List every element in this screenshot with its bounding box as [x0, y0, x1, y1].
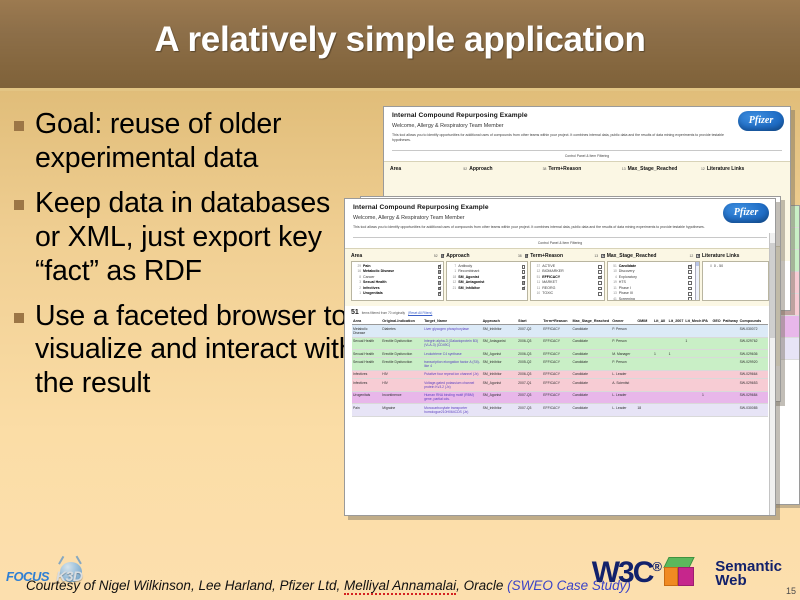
facet-option-checkbox[interactable]	[688, 292, 692, 296]
table-cell	[711, 337, 721, 350]
col-target-name[interactable]: Target_Name	[423, 317, 482, 325]
facet-option-checkbox[interactable]	[598, 276, 602, 280]
facet-count: 12	[690, 254, 694, 258]
credit-prefix: Courtesy of Nigel Wilkinson, Lee Harland…	[26, 578, 344, 593]
control-panel-label: Control Panel & Item Filtering	[345, 238, 775, 248]
facet-options-term-reason[interactable]: 37ACTIVE 12BIOMARKER 51EFFICACY 11MARKET…	[530, 261, 605, 301]
table-cell	[668, 358, 685, 371]
table-cell	[711, 350, 721, 358]
table-cell: Sexual Health	[352, 337, 381, 350]
facet-header: Literature Links	[702, 253, 769, 259]
table-cell: 18	[636, 404, 653, 417]
table-cell: Candidate	[572, 337, 612, 350]
vertical-scrollbar[interactable]	[769, 199, 775, 515]
table-cell: SW-029653	[739, 379, 768, 392]
table-cell: HIV	[381, 370, 423, 378]
facet-option-checkbox[interactable]	[688, 297, 692, 301]
table-cell: SW-029684	[739, 391, 768, 404]
facet-option-checkbox[interactable]	[598, 287, 602, 291]
credit-line: Courtesy of Nigel Wilkinson, Lee Harland…	[26, 578, 631, 593]
table-cell: 2006-Q3	[517, 350, 542, 358]
table-cell	[701, 350, 711, 358]
table-cell: SW-029664	[739, 370, 768, 378]
table-cell: EFFICACY	[542, 325, 571, 338]
facet-option-count: 8	[705, 264, 712, 269]
table-cell	[653, 391, 668, 404]
table-cell: SM_Inhibitor	[482, 404, 518, 417]
table-cell	[722, 404, 739, 417]
facet-title: Max_Stage_Reached	[607, 253, 657, 259]
facet-count: 12	[701, 167, 705, 171]
table-cell: EFFICACY	[542, 404, 571, 417]
table-cell: EFFICACY	[542, 350, 571, 358]
table-cell: EFFICACY	[542, 379, 571, 392]
facet-count: 52	[463, 167, 467, 171]
target-name-link[interactable]: Human RNA binding motif (RBM) gene, part…	[423, 391, 482, 404]
facet-literature-links: Literature Links 80 - 50	[702, 253, 769, 301]
table-cell: 2005-Q2	[517, 358, 542, 371]
table-cell: EFFICACY	[542, 370, 571, 378]
table-row[interactable]: Sexual HealthErectile DysfunctionIntegri…	[352, 337, 768, 350]
cube-left-face	[664, 567, 678, 586]
table-cell	[668, 391, 685, 404]
facet-scrollbar[interactable]	[695, 262, 699, 300]
table-cell	[722, 358, 739, 371]
facet-option[interactable]: 10TOXIC	[533, 291, 602, 296]
app-welcome: Welcome, Allergy & Respiratory Team Memb…	[392, 123, 782, 129]
facet-option-checkbox[interactable]	[688, 276, 692, 280]
facet-option-checkbox[interactable]	[438, 270, 442, 274]
table-cell: L. Leader	[611, 404, 636, 417]
facet-option[interactable]: 21SM_Inhibitor	[449, 286, 525, 291]
target-name-link[interactable]: Integrin alpha-3 (Galactoprotein B3)(VLA…	[423, 337, 482, 350]
facet-header: Max_Stage_Reached 12	[607, 253, 700, 259]
col-area[interactable]: Area	[352, 317, 381, 325]
col-start[interactable]: Start	[517, 317, 542, 325]
facet-option-label: TOXIC	[542, 291, 553, 296]
table-cell	[722, 379, 739, 392]
col-pathway[interactable]: Pathway	[722, 317, 739, 325]
reset-filters-link[interactable]: (Reset All Filters)	[408, 311, 432, 315]
table-cell: 2007-Q3	[517, 391, 542, 404]
col-term-reason[interactable]: Term+Reason	[542, 317, 571, 325]
table-cell	[701, 379, 711, 392]
facet-options-literature[interactable]: 80 - 50	[702, 261, 769, 301]
table-cell	[653, 404, 668, 417]
target-name-link[interactable]: Leukotriene C4 synthase	[423, 350, 482, 358]
app-title: Internal Compound Repurposing Example	[392, 112, 782, 119]
table-cell	[668, 337, 685, 350]
pfizer-logo: Pfizer	[738, 111, 784, 131]
credit-name: Melliyal Annamalai	[344, 578, 456, 595]
page-title: A relatively simple application	[0, 20, 800, 60]
control-panel-label: Control Panel & Item Filtering	[384, 151, 790, 161]
table-cell: 2006-Q3	[517, 370, 542, 378]
table-cell: SW-030085	[739, 404, 768, 417]
facet-option[interactable]: 1Urogenitals	[354, 291, 441, 296]
table-cell	[711, 370, 721, 378]
facet-area: Area 52 29Pain 16Metabolic Disease 8Canc…	[351, 253, 444, 301]
slide-footer: FOCUS K3D Courtesy of Nigel Wilkinson, L…	[0, 548, 800, 600]
facet-title: Term+Reason	[548, 166, 581, 172]
table-cell: SM_Agonist	[482, 379, 518, 392]
slide: A relatively simple application Goal: re…	[0, 0, 800, 600]
facet-option[interactable]: 80 - 50	[705, 264, 766, 269]
table-cell	[722, 370, 739, 378]
facet-count: 52	[434, 254, 438, 258]
pfizer-logo: Pfizer	[723, 203, 769, 223]
facet-header: Area 52	[351, 253, 444, 259]
facet-header: Max_Stage_Reached 12	[628, 166, 705, 172]
table-cell	[711, 325, 721, 338]
bullet-list: Goal: reuse of older experimental data K…	[10, 108, 362, 412]
facet-title: Approach	[469, 166, 492, 172]
table-cell: Candidate	[572, 404, 612, 417]
facet-select-all-checkbox[interactable]	[696, 254, 700, 258]
table-cell	[684, 358, 701, 371]
table-cell: SM_Antagonist	[482, 337, 518, 350]
facet-header: Term+Reason 13	[548, 166, 625, 172]
credit-suffix: , Oracle	[456, 578, 507, 593]
table-cell: L. Leader	[611, 391, 636, 404]
facet-header: Approach 38	[446, 253, 528, 259]
table-cell	[722, 337, 739, 350]
table-cell: Migraine	[381, 404, 423, 417]
table-cell: EFFICACY	[542, 391, 571, 404]
table-cell: Infectives	[352, 379, 381, 392]
table-cell: Erectile Dysfunction	[381, 350, 423, 358]
w3c-registered-mark: ®	[652, 559, 660, 574]
table-cell	[684, 391, 701, 404]
table-cell	[636, 379, 653, 392]
facet-header: Approach 38	[469, 166, 546, 172]
bullet-square-icon	[14, 121, 24, 131]
facet-option-checkbox[interactable]	[688, 287, 692, 291]
facet-option-count: 10	[533, 291, 540, 296]
app-description: This tool allows you to identify opportu…	[353, 225, 726, 230]
table-cell	[711, 358, 721, 371]
table-cell: 1	[684, 337, 701, 350]
facet-title: Max_Stage_Reached	[628, 166, 678, 172]
w3c-logo[interactable]: W3C®	[592, 556, 660, 590]
table-cell: Candidate	[572, 358, 612, 371]
facet-count: 38	[543, 167, 547, 171]
facet-option-checkbox[interactable]	[688, 270, 692, 274]
facet-option[interactable]: 41Screening	[610, 297, 697, 302]
results-note: items filtered from 70 originally	[362, 311, 405, 315]
facet-option-count: 21	[449, 286, 456, 291]
facet-count: 13	[622, 167, 626, 171]
table-cell: SM_Inhibitor	[482, 370, 518, 378]
table-row[interactable]: InfectivesHIVPutative four repeat ion ch…	[352, 370, 768, 378]
table-cell: 2007-Q2	[517, 325, 542, 338]
facet-option-checkbox[interactable]	[438, 292, 442, 296]
facet-title: Approach	[446, 253, 469, 259]
col-owner[interactable]: Owner	[611, 317, 636, 325]
table-cell: Incontinence	[381, 391, 423, 404]
table-cell: M. Manager	[611, 350, 636, 358]
facet-header: Literature Links	[707, 166, 784, 172]
target-name-link[interactable]: Putative four repeat ion channel (Jx)	[423, 370, 482, 378]
table-cell: SW-029636	[739, 350, 768, 358]
table-cell: P. Person	[611, 337, 636, 350]
table-cell	[636, 370, 653, 378]
results-count: 51	[351, 309, 359, 316]
page-number: 15	[786, 586, 796, 596]
table-cell	[653, 358, 668, 371]
table-cell: P. Person	[611, 325, 636, 338]
semantic-line-2: Web	[715, 574, 782, 588]
app-description: This tool allows you to identify opportu…	[392, 133, 743, 143]
table-cell	[711, 379, 721, 392]
table-cell	[701, 325, 711, 338]
col-ipa[interactable]: IPA	[701, 317, 711, 325]
table-cell	[722, 350, 739, 358]
col-original-indication[interactable]: Original-Indication	[381, 317, 423, 325]
table-cell: SW-030072	[739, 325, 768, 338]
semantic-web-cube-icon	[664, 557, 696, 587]
table-cell: Erectile Dysfunction	[381, 337, 423, 350]
col-geo[interactable]: GEO	[711, 317, 721, 325]
facet-bar: Area 52 29Pain 16Metabolic Disease 8Canc…	[345, 248, 775, 306]
facet-option-checkbox[interactable]	[598, 292, 602, 296]
table-cell: Candidate	[572, 325, 612, 338]
app-welcome: Welcome, Allergy & Respiratory Team Memb…	[353, 215, 767, 221]
bullet-text: Goal: reuse of older experimental data	[35, 108, 362, 176]
table-row[interactable]: InfectivesHIVVoltage-gated potassium cha…	[352, 379, 768, 392]
facet-header: Area 52	[390, 166, 467, 172]
table-row[interactable]: PainMigraineMonocarboxylate transporter …	[352, 404, 768, 417]
facet-title: Term+Reason	[530, 253, 563, 259]
list-item: Goal: reuse of older experimental data	[10, 108, 362, 176]
table-cell: Erectile Dysfunction	[381, 358, 423, 371]
facet-max-stage: Max_Stage_Reached 12 51Candidate 10Disco…	[607, 253, 700, 301]
table-cell: SW-029920	[739, 358, 768, 371]
table-cell	[684, 404, 701, 417]
facet-option-checkbox[interactable]	[688, 265, 692, 269]
facet-option-label: Urogenitals	[363, 291, 383, 296]
table-cell: Pain	[352, 404, 381, 417]
table-cell: 1	[668, 350, 685, 358]
table-cell	[636, 325, 653, 338]
table-cell	[653, 379, 668, 392]
table-cell	[668, 379, 685, 392]
table-cell: 2007-Q1	[517, 379, 542, 392]
table-cell: Sexual Health	[352, 358, 381, 371]
table-row[interactable]: Metabolic DiseaseDiabetesLiver glycogen …	[352, 325, 768, 338]
table-cell	[636, 358, 653, 371]
table-cell: Metabolic Disease	[352, 325, 381, 338]
facet-title: Literature Links	[707, 166, 745, 172]
table-cell: 1	[653, 350, 668, 358]
table-cell: 1	[701, 391, 711, 404]
table-cell: EFFICACY	[542, 337, 571, 350]
table-cell	[636, 391, 653, 404]
table-cell	[701, 358, 711, 371]
facet-count: 38	[518, 254, 522, 258]
table-cell: SM_Agonist	[482, 391, 518, 404]
target-name-link[interactable]: Voltage-gated potassium channel protein …	[423, 379, 482, 392]
table-cell: 2007-Q3	[517, 404, 542, 417]
results-summary: 51 items filtered from 70 originally (Re…	[345, 306, 775, 317]
facet-title: Area	[390, 166, 401, 172]
table-cell: Candidate	[572, 391, 612, 404]
facet-select-all-checkbox[interactable]	[601, 254, 605, 258]
results-table: Area Original-Indication Target_Name App…	[352, 317, 768, 417]
table-cell	[711, 404, 721, 417]
facet-option-checkbox[interactable]	[598, 265, 602, 269]
facet-option-count: 1	[354, 291, 361, 296]
table-cell	[636, 350, 653, 358]
facet-title: Area	[351, 253, 362, 259]
target-name-link[interactable]: Monocarboxylate transporter homologue210…	[423, 404, 482, 417]
bullet-text: Keep data in databases or XML, just expo…	[35, 187, 362, 289]
table-cell: SW-029762	[739, 337, 768, 350]
col-max-stage-reached[interactable]: Max_Stage_Reached	[572, 317, 612, 325]
facet-options-max-stage[interactable]: 51Candidate 10Discovery 4Exploratory 19H…	[607, 261, 700, 301]
col-lit-mech[interactable]: Lit_Mech	[684, 317, 701, 325]
col-lit-2007[interactable]: Lit_2007	[668, 317, 685, 325]
table-cell: Candidate	[572, 379, 612, 392]
app-title: Internal Compound Repurposing Example	[353, 204, 767, 211]
facet-term-reason: Term+Reason 13 37ACTIVE 12BIOMARKER 51EF…	[530, 253, 605, 301]
col-compounds[interactable]: Compounds	[739, 317, 768, 325]
table-cell	[668, 370, 685, 378]
table-cell	[684, 379, 701, 392]
facet-option-label: 0 - 50	[714, 264, 723, 269]
table-row[interactable]: UrogenitalsIncontinenceHuman RNA binding…	[352, 391, 768, 404]
facet-option-label: Screening	[619, 297, 635, 302]
table-cell: SM_Inhibitor	[482, 325, 518, 338]
list-item: Keep data in databases or XML, just expo…	[10, 187, 362, 289]
table-cell: Infectives	[352, 370, 381, 378]
table-cell	[701, 337, 711, 350]
table-cell	[711, 391, 721, 404]
table-cell	[722, 391, 739, 404]
app-header: Pfizer Internal Compound Repurposing Exa…	[345, 199, 775, 233]
facet-count: 13	[594, 254, 598, 258]
table-cell: SM_Agonist	[482, 350, 518, 358]
table-cell: EFFICACY	[542, 358, 571, 371]
table-cell	[684, 325, 701, 338]
table-cell: Candidate	[572, 370, 612, 378]
table-cell: Sexual Health	[352, 350, 381, 358]
col-omim[interactable]: OMIM	[636, 317, 653, 325]
w3c-wordmark: W3C	[592, 556, 653, 589]
facet-option-label: SM_Inhibitor	[458, 286, 480, 291]
title-band: A relatively simple application	[0, 0, 800, 91]
facet-header: Term+Reason 13	[530, 253, 605, 259]
results-table-body: Metabolic DiseaseDiabetesLiver glycogen …	[352, 325, 768, 417]
table-cell	[722, 325, 739, 338]
facet-option-checkbox[interactable]	[688, 281, 692, 285]
table-cell	[684, 350, 701, 358]
table-cell: P. Person	[611, 358, 636, 371]
table-cell	[684, 370, 701, 378]
col-approach[interactable]: Approach	[482, 317, 518, 325]
table-cell	[653, 337, 668, 350]
table-cell	[701, 370, 711, 378]
app-window-front[interactable]: Pfizer Internal Compound Repurposing Exa…	[344, 198, 776, 516]
facet-option-checkbox[interactable]	[522, 287, 526, 291]
table-cell	[653, 325, 668, 338]
table-cell: SM_Inhibitor	[482, 358, 518, 371]
table-cell	[668, 325, 685, 338]
table-cell: Urogenitals	[352, 391, 381, 404]
table-row[interactable]: Sexual HealthErectile DysfunctionLeukotr…	[352, 350, 768, 358]
bullet-text: Use a faceted browser to visualize and i…	[35, 300, 362, 402]
col-lit-all[interactable]: Lit_All	[653, 317, 668, 325]
app-header: Pfizer Internal Compound Repurposing Exa…	[384, 107, 790, 146]
table-header-row: Area Original-Indication Target_Name App…	[352, 317, 768, 325]
table-row[interactable]: Sexual HealthErectile Dysfunctiontranscr…	[352, 358, 768, 371]
facet-select-all-checkbox[interactable]	[441, 254, 445, 258]
facet-option-checkbox[interactable]	[522, 265, 526, 269]
target-name-link[interactable]: transcription elongation factor A (SII)-…	[423, 358, 482, 371]
table-cell: A. Scientist	[611, 379, 636, 392]
facet-approach: Approach 38 7Antibody 1Recombinant 18SM_…	[446, 253, 528, 301]
cube-right-face	[678, 567, 694, 586]
facet-options-approach[interactable]: 7Antibody 1Recombinant 18SM_Agonist 12SM…	[446, 261, 528, 301]
table-cell	[701, 404, 711, 417]
list-item: Use a faceted browser to visualize and i…	[10, 300, 362, 402]
target-name-link[interactable]: Liver glycogen phosphorylase	[423, 325, 482, 338]
table-cell: HIV	[381, 379, 423, 392]
table-cell: L. Leader	[611, 370, 636, 378]
facet-select-all-checkbox[interactable]	[525, 254, 529, 258]
table-cell: Candidate	[572, 350, 612, 358]
bullet-square-icon	[14, 200, 24, 210]
table-cell	[668, 404, 685, 417]
facet-options-area[interactable]: 29Pain 16Metabolic Disease 8Cancer 3Sexu…	[351, 261, 444, 301]
bullet-square-icon	[14, 313, 24, 323]
results-table-wrap: Area Original-Indication Target_Name App…	[345, 317, 775, 417]
facet-title: Literature Links	[702, 253, 740, 259]
table-cell	[636, 337, 653, 350]
table-cell: 2006-Q3	[517, 337, 542, 350]
facet-option-count: 41	[610, 297, 617, 302]
table-cell: Diabetes	[381, 325, 423, 338]
table-cell	[653, 370, 668, 378]
semantic-web-wordmark: Semantic Web	[715, 560, 782, 588]
facet-option-checkbox[interactable]	[598, 281, 602, 285]
